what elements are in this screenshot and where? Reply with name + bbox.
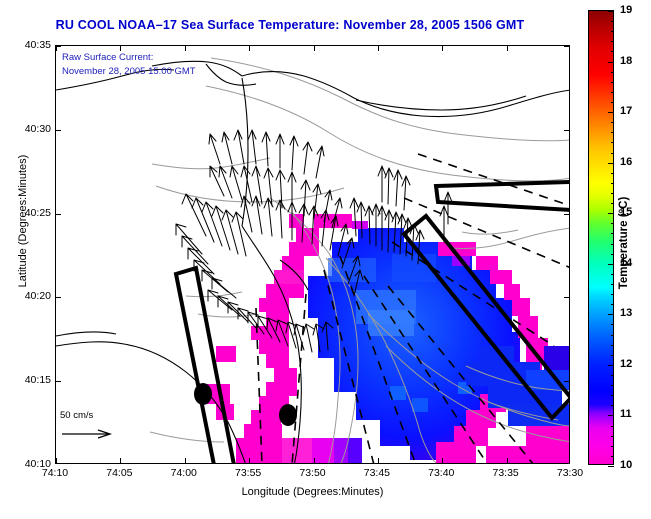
colorbar-tick-label: 12 <box>620 358 632 370</box>
colorbar-tick <box>608 365 614 366</box>
colorbar-minor-tick <box>611 446 614 447</box>
colorbar-minor-tick <box>611 385 614 386</box>
axis-tick <box>442 458 443 463</box>
axis-tick <box>249 458 250 463</box>
colorbar-tick-label: 11 <box>620 408 632 420</box>
colorbar-minor-tick <box>611 102 614 103</box>
colorbar-minor-tick <box>611 142 614 143</box>
axis-tick <box>564 46 569 47</box>
axis-tick <box>249 46 250 51</box>
colorbar-tick <box>608 62 614 63</box>
x-axis-tick-label: 74:00 <box>171 467 197 479</box>
axis-tick <box>314 458 315 463</box>
axis-tick <box>507 46 508 51</box>
colorbar-minor-tick <box>611 51 614 52</box>
axis-tick <box>314 46 315 51</box>
axis-tick <box>378 458 379 463</box>
axis-tick <box>56 381 61 382</box>
colorbar-tick <box>608 466 614 467</box>
velocity-scale-bar: 50 cm/s <box>60 410 116 445</box>
axis-tick <box>56 297 61 298</box>
x-axis-tick-label: 73:40 <box>428 467 454 479</box>
y-axis-tick-label: 40:10 <box>25 458 51 470</box>
axis-tick <box>564 297 569 298</box>
colorbar-minor-tick <box>611 223 614 224</box>
axis-tick <box>185 458 186 463</box>
colorbar-minor-tick <box>611 324 614 325</box>
colorbar-minor-tick <box>611 173 614 174</box>
map-canvas: Raw Surface Current: November 28, 2005 1… <box>56 46 569 463</box>
colorbar-minor-tick <box>611 183 614 184</box>
y-axis-tick-label: 40:15 <box>25 374 51 386</box>
colorbar-tick-label: 17 <box>620 105 632 117</box>
colorbar-minor-tick <box>611 426 614 427</box>
axis-tick <box>56 214 61 215</box>
colorbar-minor-tick <box>611 233 614 234</box>
annotation-line-1: Raw Surface Current: <box>62 51 196 65</box>
y-axis-tick-label: 40:35 <box>25 39 51 51</box>
colorbar-minor-tick <box>611 41 614 42</box>
x-axis-tick-label: 74:05 <box>106 467 132 479</box>
axis-tick <box>564 130 569 131</box>
colorbar-tick <box>608 11 614 12</box>
map-plot-area[interactable]: Raw Surface Current: November 28, 2005 1… <box>55 45 570 464</box>
colorbar-minor-tick <box>611 456 614 457</box>
axis-tick <box>120 458 121 463</box>
colorbar-minor-tick <box>611 72 614 73</box>
scale-bar-label: 50 cm/s <box>60 410 116 421</box>
colorbar-minor-tick <box>611 122 614 123</box>
colorbar-minor-tick <box>611 375 614 376</box>
colorbar-minor-tick <box>611 31 614 32</box>
colorbar-tick <box>608 163 614 164</box>
colorbar-minor-tick <box>611 335 614 336</box>
colorbar-minor-tick <box>611 203 614 204</box>
x-axis-tick-label: 73:30 <box>557 467 583 479</box>
axis-tick <box>507 458 508 463</box>
colorbar-minor-tick <box>611 132 614 133</box>
colorbar-minor-tick <box>611 284 614 285</box>
axis-tick <box>378 46 379 51</box>
colorbar-minor-tick <box>611 193 614 194</box>
sst-field <box>56 46 570 464</box>
colorbar-tick-label: 19 <box>620 4 632 16</box>
current-annotation: Raw Surface Current: November 28, 2005 1… <box>62 51 196 79</box>
colorbar-minor-tick <box>611 304 614 305</box>
x-axis-tick-label: 73:50 <box>299 467 325 479</box>
colorbar-minor-tick <box>611 254 614 255</box>
colorbar-minor-tick <box>611 82 614 83</box>
colorbar-tick-label: 18 <box>620 55 632 67</box>
axis-tick <box>56 46 61 47</box>
colorbar-minor-tick <box>611 395 614 396</box>
x-axis-tick-label: 73:45 <box>364 467 390 479</box>
colorbar-minor-tick <box>611 405 614 406</box>
x-axis-tick-label: 73:35 <box>492 467 518 479</box>
annotation-line-2: November 28, 2005 15:00 GMT <box>62 65 196 79</box>
axis-tick <box>564 381 569 382</box>
colorbar-minor-tick <box>611 21 614 22</box>
y-axis-title: Latitude (Degrees:Minutes) <box>17 101 29 341</box>
colorbar-tick <box>608 112 614 113</box>
axis-tick <box>564 214 569 215</box>
colorbar-minor-tick <box>611 92 614 93</box>
colorbar-minor-tick <box>611 153 614 154</box>
colorbar-minor-tick <box>611 244 614 245</box>
colorbar-tick <box>608 415 614 416</box>
x-axis-tick-label: 73:55 <box>235 467 261 479</box>
colorbar-minor-tick <box>611 274 614 275</box>
colorbar-minor-tick <box>611 355 614 356</box>
colorbar-tick <box>608 213 614 214</box>
colorbar-minor-tick <box>611 294 614 295</box>
axis-tick <box>56 130 61 131</box>
axis-tick <box>56 458 57 463</box>
colorbar-title: Temperature (°C) <box>618 143 630 343</box>
colorbar-tick <box>608 314 614 315</box>
temperature-colorbar[interactable] <box>588 10 614 465</box>
colorbar-tick <box>608 264 614 265</box>
colorbar-minor-tick <box>611 436 614 437</box>
page-title: RU COOL NOAA–17 Sea Surface Temperature:… <box>0 18 580 32</box>
x-axis-title: Longitude (Degrees:Minutes) <box>55 486 570 498</box>
axis-tick <box>442 46 443 51</box>
colorbar-minor-tick <box>611 345 614 346</box>
colorbar-tick-label: 10 <box>620 459 632 471</box>
right-arrow-icon <box>60 427 116 445</box>
